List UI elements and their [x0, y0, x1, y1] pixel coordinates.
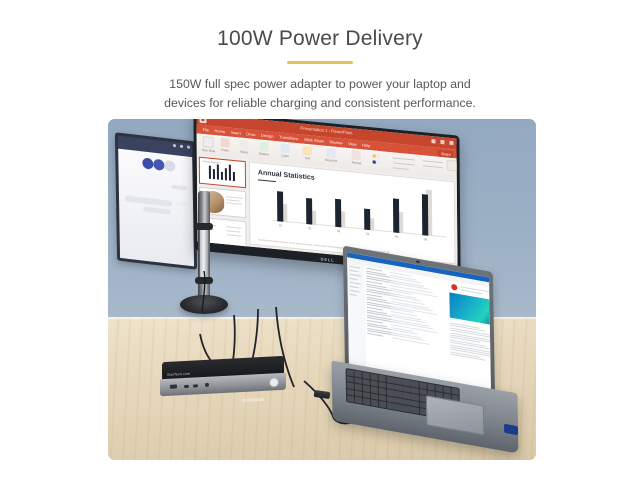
- chat-bubble-message-1: [125, 195, 172, 206]
- secondary-monitor: [115, 132, 197, 269]
- chat-bubble-timestamp: [172, 185, 187, 191]
- color-swatches[interactable]: [373, 154, 380, 158]
- keyboard-key[interactable]: [363, 385, 370, 392]
- chart-bar: [364, 208, 370, 230]
- keyboard-key[interactable]: [347, 382, 354, 389]
- ribbon-group-paste[interactable]: Paste: [221, 138, 230, 153]
- chart-bar: [306, 198, 312, 225]
- thumb-bar: [217, 164, 219, 179]
- keyboard-key[interactable]: [403, 392, 410, 399]
- chart-bar: [335, 199, 341, 227]
- ribbon-group-format[interactable]: Format: [352, 150, 362, 165]
- smart-art-icon[interactable]: [326, 148, 335, 158]
- laptop-trackpad[interactable]: [426, 395, 485, 435]
- chat-avatar-2: [153, 159, 164, 171]
- port-usb-c-2[interactable]: [193, 384, 198, 387]
- lifestyle-photo: Presentation 1 - PowerPoint File Home In…: [108, 119, 536, 460]
- slide-thumbnail-1[interactable]: Annual Statistics: [199, 157, 246, 189]
- tab-insert[interactable]: Insert: [231, 130, 241, 136]
- mail-embedded-image: [449, 292, 491, 326]
- thumb-bar: [229, 165, 231, 181]
- mail-reading-pane[interactable]: [442, 279, 491, 394]
- ribbon-label: Paste: [221, 148, 229, 153]
- page-title: 100W Power Delivery: [0, 27, 640, 50]
- tab-slide-show[interactable]: Slide Show: [304, 137, 324, 144]
- window-close-dot: [187, 146, 190, 149]
- tab-home[interactable]: Home: [214, 128, 225, 134]
- slides-icon[interactable]: [240, 140, 249, 150]
- tab-help[interactable]: Help: [362, 142, 370, 148]
- subtitle-line-1: 150W full spec power adapter to power yo…: [0, 75, 640, 94]
- webcam-icon: [416, 260, 420, 262]
- monitor-arm-clamp-upper: [195, 223, 213, 230]
- chart-x-tick-label: 01: [278, 223, 284, 228]
- window-maximize-dot: [180, 145, 183, 148]
- ribbon-label: Format: [352, 160, 362, 165]
- ribbon-group-new-slide[interactable]: New Slide: [202, 136, 216, 153]
- chart-x-tick-label: 02: [307, 226, 313, 231]
- powerpoint-app-icon: [199, 119, 206, 123]
- keyboard-key[interactable]: [387, 376, 394, 383]
- chart-axis: [272, 220, 446, 237]
- chat-bubble-meta: [175, 201, 187, 206]
- keyboard-key[interactable]: [363, 372, 370, 379]
- chart-x-tick-label: 04: [365, 232, 371, 237]
- ribbon-group-designer[interactable]: [447, 160, 458, 172]
- sender-avatar: [451, 284, 457, 291]
- keyboard-key[interactable]: [411, 394, 418, 401]
- ribbon-label: Smart Art: [325, 158, 338, 163]
- monitor-arm-stand: [192, 191, 216, 339]
- keyboard-key[interactable]: [355, 384, 362, 391]
- keyboard-key[interactable]: [347, 369, 354, 376]
- ribbon-label: Slides: [240, 150, 248, 155]
- tab-design[interactable]: Design: [261, 133, 273, 139]
- keyboard-key[interactable]: [411, 381, 418, 388]
- ribbon-label: Chart: [282, 154, 289, 159]
- chart-bar: [393, 199, 399, 233]
- keyboard-key[interactable]: [395, 404, 402, 411]
- thumb-bar: [225, 168, 227, 180]
- thumb-bar: [213, 169, 215, 179]
- subtitle-line-2: devices for reliable charging and consis…: [0, 94, 640, 113]
- designer-icon[interactable]: [447, 160, 458, 172]
- keyboard-key[interactable]: [427, 384, 434, 391]
- swatch-light-2[interactable]: [377, 161, 380, 164]
- keyboard-key[interactable]: [435, 385, 442, 392]
- thumb-bar: [209, 166, 211, 179]
- keyboard-key[interactable]: [403, 405, 410, 412]
- keyboard-key[interactable]: [443, 386, 450, 393]
- shapes-icon[interactable]: [259, 141, 268, 151]
- ribbon-label: New Slide: [202, 148, 216, 153]
- swatch-blue[interactable]: [373, 160, 376, 163]
- secondary-monitor-screen: [118, 149, 194, 267]
- keyboard-key[interactable]: [451, 388, 458, 395]
- maximize-icon[interactable]: [440, 140, 444, 144]
- keyboard-key[interactable]: [419, 382, 426, 389]
- chat-avatar-3: [164, 160, 175, 172]
- keyboard-key[interactable]: [412, 407, 419, 414]
- ribbon-line-4: [423, 160, 443, 163]
- chart-bar: [277, 191, 283, 221]
- keyboard-key[interactable]: [379, 388, 386, 395]
- swatch-yellow[interactable]: [373, 154, 376, 157]
- new-slide-icon[interactable]: [203, 136, 214, 148]
- keyboard-key[interactable]: [395, 391, 402, 398]
- primary-monitor: Presentation 1 - PowerPoint File Home In…: [193, 119, 460, 276]
- keyboard-key[interactable]: [371, 387, 378, 394]
- ribbon-line-2: [393, 162, 415, 165]
- thumb-bar: [233, 172, 235, 181]
- close-icon[interactable]: [449, 141, 453, 145]
- ribbon-line-1: [393, 157, 415, 160]
- chat-avatar-1: [142, 157, 153, 169]
- minimize-icon[interactable]: [431, 139, 435, 143]
- monitor-arm-base: [180, 295, 228, 314]
- tab-file[interactable]: File: [203, 127, 209, 133]
- chat-bubble-message-2: [143, 207, 171, 215]
- ribbon-group-slides[interactable]: Slides: [240, 140, 249, 155]
- ribbon-group-smart-art[interactable]: Smart Art: [325, 148, 338, 163]
- usb-c-docking-station[interactable]: StarTech.com: [160, 356, 286, 401]
- ribbon-group-chart[interactable]: Chart: [281, 144, 290, 159]
- title-underline-accent: [287, 61, 353, 64]
- subtitle-block: 150W full spec power adapter to power yo…: [0, 75, 640, 113]
- ribbon-label: Shapes: [259, 151, 269, 156]
- keyboard-key[interactable]: [363, 398, 370, 405]
- window-minimize-dot: [173, 144, 176, 147]
- window-controls[interactable]: [431, 139, 453, 145]
- tab-view[interactable]: View: [348, 141, 357, 147]
- ribbon-line-5: [423, 165, 443, 168]
- slide-heading-rule: [258, 179, 276, 182]
- port-usb-c-1[interactable]: [184, 385, 189, 388]
- keyboard-key[interactable]: [371, 400, 378, 407]
- tab-transitions[interactable]: Transitions: [279, 134, 298, 141]
- ribbon-line-3: [393, 167, 409, 169]
- powerpoint-window-title: Presentation 1 - PowerPoint: [300, 125, 352, 135]
- thumb-bar: [221, 172, 223, 180]
- paste-icon[interactable]: [221, 138, 230, 148]
- format-icon[interactable]: [352, 150, 361, 160]
- monitor-arm-segment: [200, 227, 208, 279]
- color-swatches-2[interactable]: [373, 160, 380, 164]
- annual-statistics-chart: 010203040506: [272, 187, 446, 247]
- keyboard-key[interactable]: [355, 397, 362, 404]
- keyboard-key[interactable]: [403, 379, 410, 386]
- product-lifestyle-banner: 100W Power Delivery 150W full spec power…: [0, 0, 640, 480]
- ribbon-label: Text: [304, 156, 310, 161]
- keyboard-key[interactable]: [387, 403, 394, 410]
- primary-monitor-screen: Presentation 1 - PowerPoint File Home In…: [196, 119, 457, 267]
- chart-icon[interactable]: [281, 144, 290, 154]
- text-box-icon[interactable]: [303, 146, 312, 156]
- laptop: DELL: [326, 259, 526, 449]
- keyboard-key[interactable]: [355, 371, 362, 378]
- keyboard-key[interactable]: [395, 378, 402, 385]
- header-block: 100W Power Delivery 150W full spec power…: [0, 0, 640, 113]
- tab-review[interactable]: Review: [329, 139, 342, 145]
- keyboard-key[interactable]: [379, 375, 386, 382]
- ribbon-group-text[interactable]: Text: [303, 146, 312, 161]
- keyboard-key[interactable]: [387, 389, 394, 396]
- keyboard-key[interactable]: [371, 374, 378, 381]
- port-usb-a[interactable]: [170, 384, 177, 388]
- tab-draw[interactable]: Draw: [246, 131, 255, 137]
- keyboard-key[interactable]: [347, 395, 354, 402]
- monitor-arm-clamp-lower: [195, 277, 213, 284]
- chart-x-tick-label: 06: [423, 237, 429, 242]
- chart-x-tick-label: 05: [394, 234, 400, 239]
- ribbon-group-shapes[interactable]: Shapes: [259, 141, 269, 156]
- swatch-light[interactable]: [377, 155, 380, 158]
- chart-x-tick-label: 03: [336, 229, 342, 234]
- chart-bar: [422, 194, 428, 236]
- keyboard-key[interactable]: [379, 401, 386, 408]
